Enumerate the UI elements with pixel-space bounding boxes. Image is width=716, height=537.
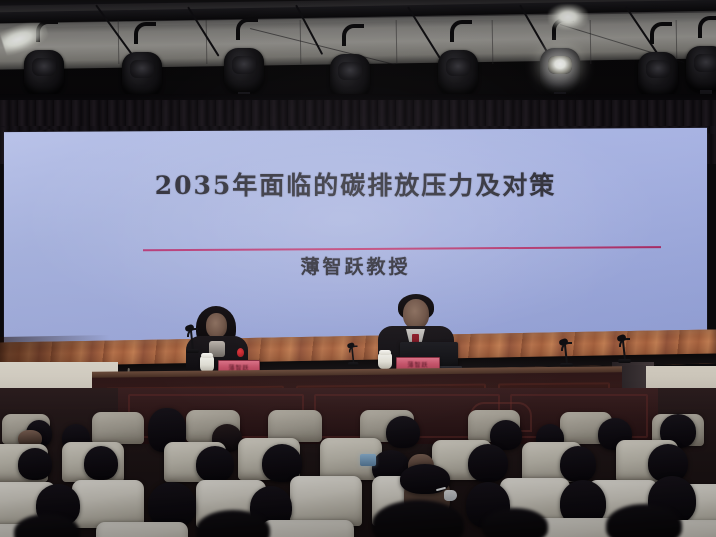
audience-seat [290, 476, 362, 526]
speaker-left-badge [237, 348, 244, 357]
audience-head-foreground [482, 508, 548, 537]
audience-seat [72, 480, 144, 528]
audience-seat [96, 522, 188, 537]
audience-seat [92, 412, 144, 444]
phone-screen [360, 454, 376, 466]
audience-area [0, 388, 716, 537]
spotlight-flare-right [548, 4, 588, 30]
audience-head [84, 446, 118, 480]
lecture-hall-photo: 2035年面临的碳排放压力及对策 薄智跃教授 薄智跃 薄智跃 [0, 0, 716, 537]
audience-head-foreground [372, 500, 464, 537]
projection-screen: 2035年面临的碳排放压力及对策 薄智跃教授 [4, 128, 707, 365]
audience-head [468, 444, 508, 482]
ceiling-truss-area [0, 0, 716, 108]
speaker-right-head [403, 299, 429, 329]
slide-subtitle: 薄智跃教授 [4, 252, 707, 279]
audience-seat [262, 520, 354, 537]
audience-head [560, 446, 596, 482]
audience-head [196, 446, 234, 482]
slide-title: 2035年面临的碳排放压力及对策 [4, 166, 707, 202]
teacup-right [378, 353, 392, 369]
audience-head [386, 416, 420, 448]
slide-divider-rule [143, 246, 661, 251]
face-mask [444, 490, 457, 501]
audience-head [18, 448, 52, 480]
speaker-left-head [206, 313, 227, 338]
